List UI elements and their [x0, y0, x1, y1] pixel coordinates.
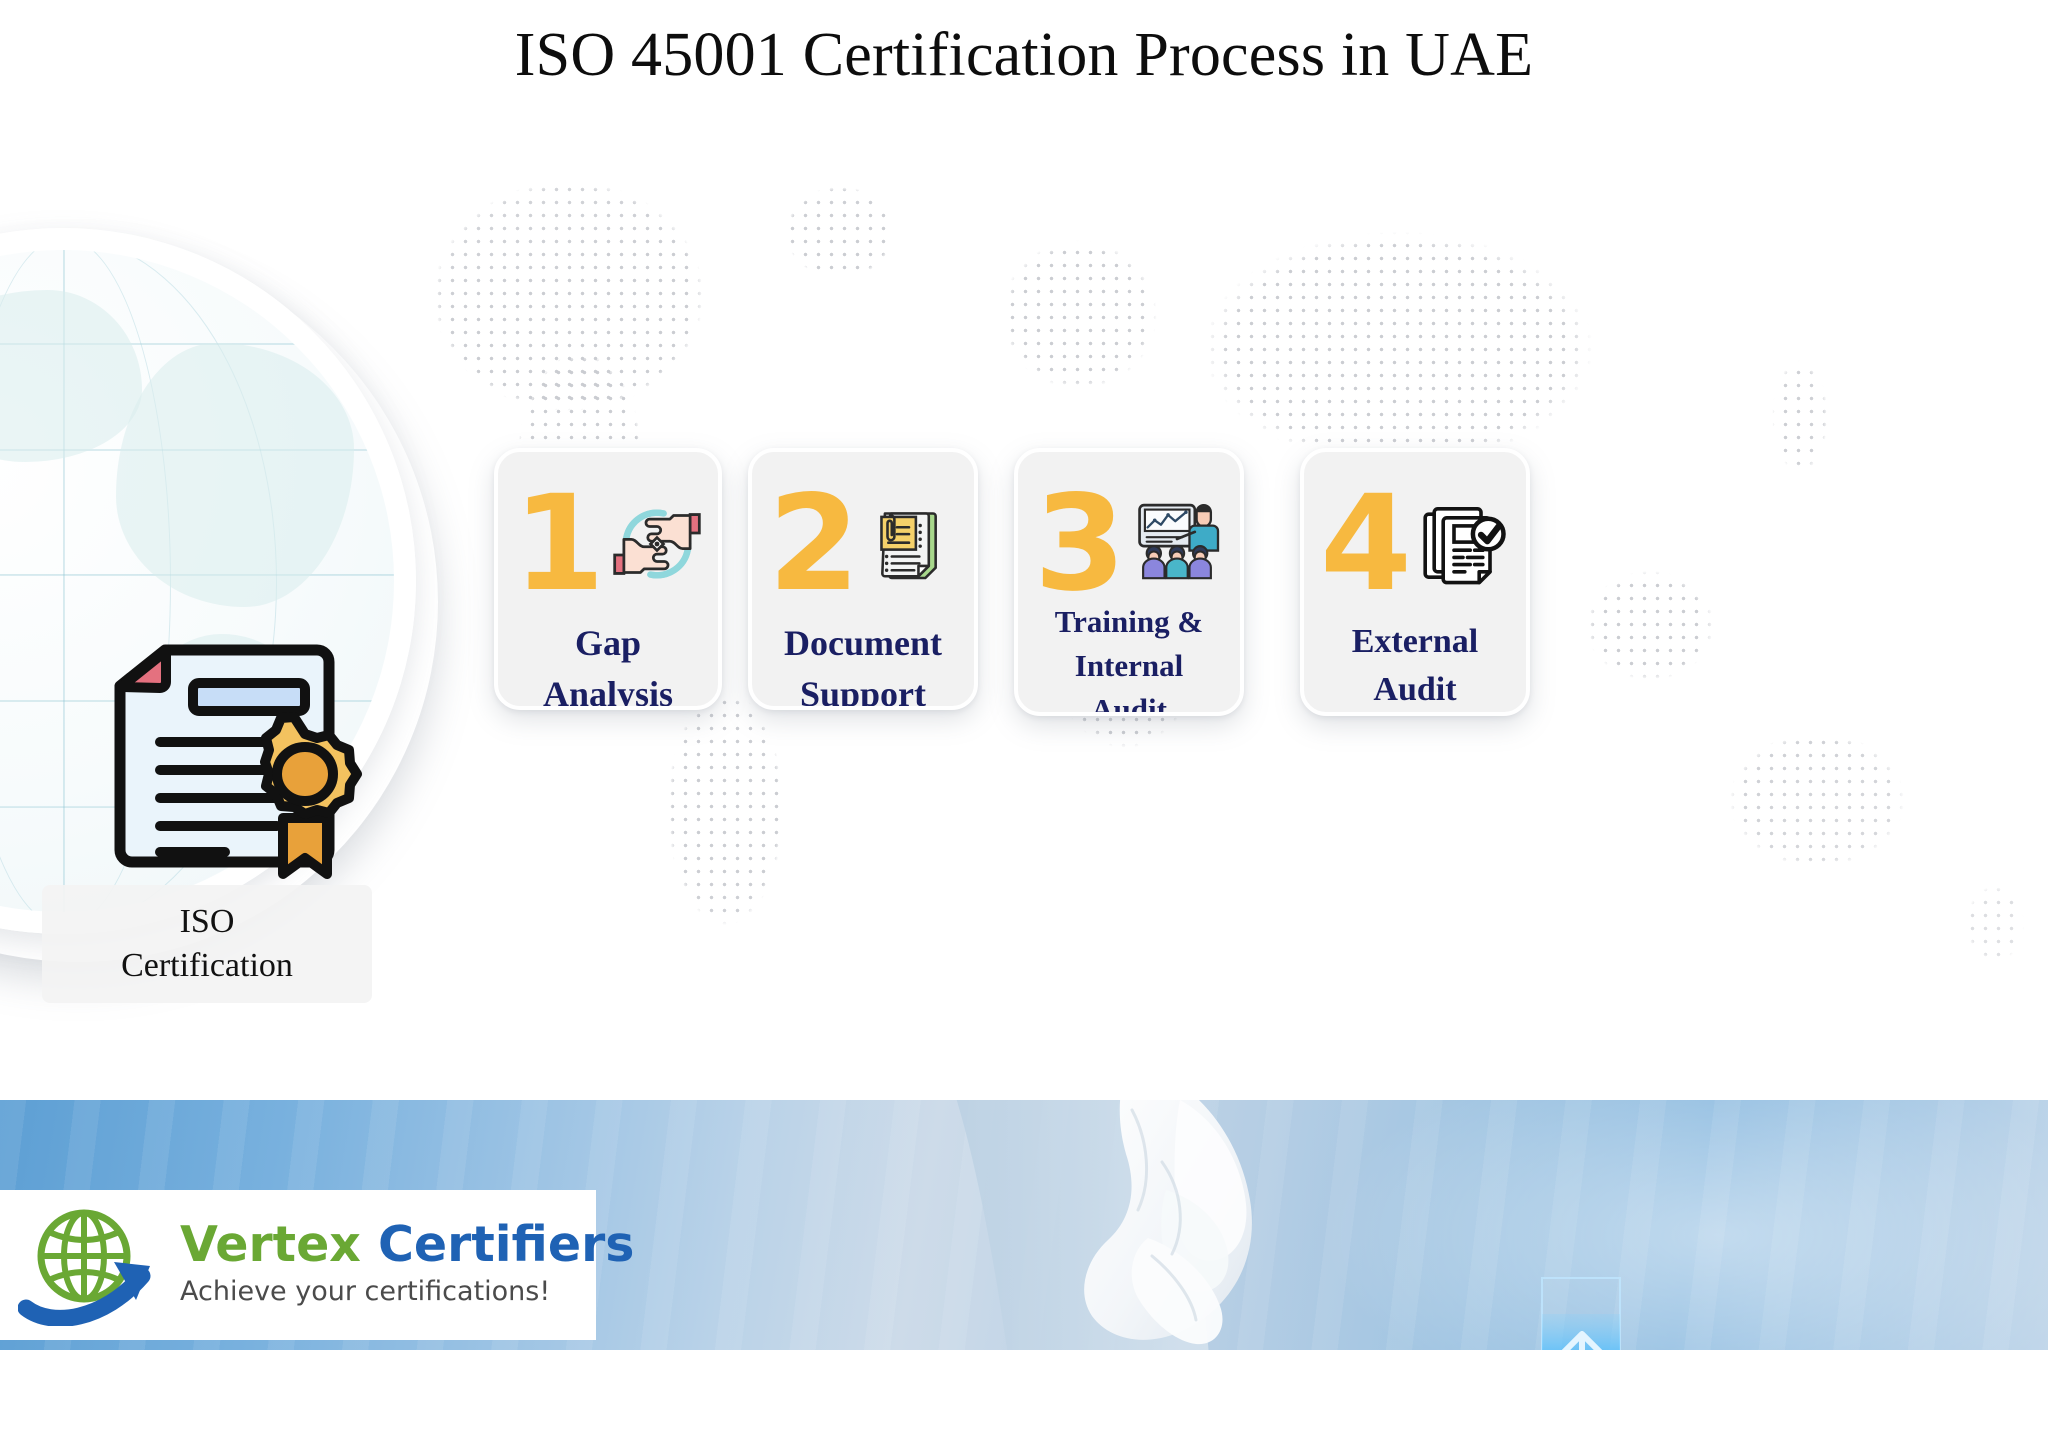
step-card-2[interactable]: 2: [748, 448, 978, 710]
brand-name-second: Certifiers: [378, 1216, 634, 1273]
map-region-new-zealand: [1940, 870, 2048, 990]
step-3-label-line3: Audit: [1018, 688, 1240, 716]
globe-land-c: [116, 343, 354, 608]
teamwork-handshake-puzzle-icon: [611, 498, 703, 590]
step-2-label-line1: Document: [752, 618, 974, 669]
globe-arrow-logo-icon: [18, 1204, 168, 1326]
infographic-canvas: ISO 45001 Certification Process in UAE: [0, 0, 2048, 1448]
brand-name-first: Vertex: [180, 1216, 361, 1273]
step-1-label-line2: Analysis: [498, 669, 718, 710]
step-3-label-line1: Training &: [1018, 600, 1240, 644]
step-1-label: Gap Analysis: [498, 618, 718, 710]
brand-logo[interactable]: Vertex Certifiers Achieve your certifica…: [0, 1190, 596, 1340]
brand-tagline: Achieve your certifications!: [180, 1274, 634, 1309]
step-4-header: 4: [1304, 474, 1526, 614]
documents-check-icon: [1418, 498, 1510, 590]
hero-label-line2: Certification: [121, 944, 293, 988]
map-region-australia: [1700, 710, 1960, 910]
step-1-label-line1: Gap: [498, 618, 718, 669]
hero-label-line1: ISO: [180, 900, 235, 944]
map-region-europe: [980, 220, 1200, 430]
step-3-number: 3: [1034, 478, 1122, 610]
map-region-japan: [1740, 340, 1860, 510]
step-2-header: 2: [752, 474, 974, 614]
certificate-award-icon: [65, 638, 365, 893]
map-region-south-america: [640, 670, 830, 1000]
brand-text: Vertex Certifiers Achieve your certifica…: [180, 1220, 634, 1309]
page-title: ISO 45001 Certification Process in UAE: [0, 20, 2048, 91]
training-presentation-icon: [1132, 498, 1224, 590]
step-3-header: 3: [1018, 474, 1240, 614]
step-4-number: 4: [1320, 478, 1408, 610]
step-card-4[interactable]: 4: [1300, 448, 1530, 716]
document-paperclip-icon: [866, 498, 958, 590]
step-2-label-line2: Support: [752, 669, 974, 710]
hero-label: ISO Certification: [42, 885, 372, 1003]
brand-name: Vertex Certifiers: [180, 1220, 634, 1270]
hero-globe-circle: ISO Certification: [0, 228, 450, 968]
step-4-label: External Audit: [1304, 618, 1526, 715]
step-4-label-line1: External: [1304, 618, 1526, 666]
step-1-header: 1: [498, 474, 718, 614]
main-panel: ISO Certification 1: [0, 110, 2048, 1100]
step-4-label-line2: Audit: [1304, 666, 1526, 714]
step-3-label-line2: Internal: [1018, 644, 1240, 688]
footer-glow: [1268, 1100, 2048, 1350]
step-card-1[interactable]: 1: [494, 448, 722, 710]
gloved-hand-photo: [880, 1100, 1310, 1350]
map-region-southeast-asia: [1560, 540, 1760, 730]
glowing-touch-button-icon: [1538, 1276, 1630, 1350]
step-2-label: Document Support: [752, 618, 974, 710]
step-2-number: 2: [768, 478, 856, 610]
step-3-label: Training & Internal Audit: [1018, 600, 1240, 716]
step-1-number: 1: [513, 478, 601, 610]
map-region-greenland: [760, 170, 920, 300]
step-card-3[interactable]: 3: [1014, 448, 1244, 716]
